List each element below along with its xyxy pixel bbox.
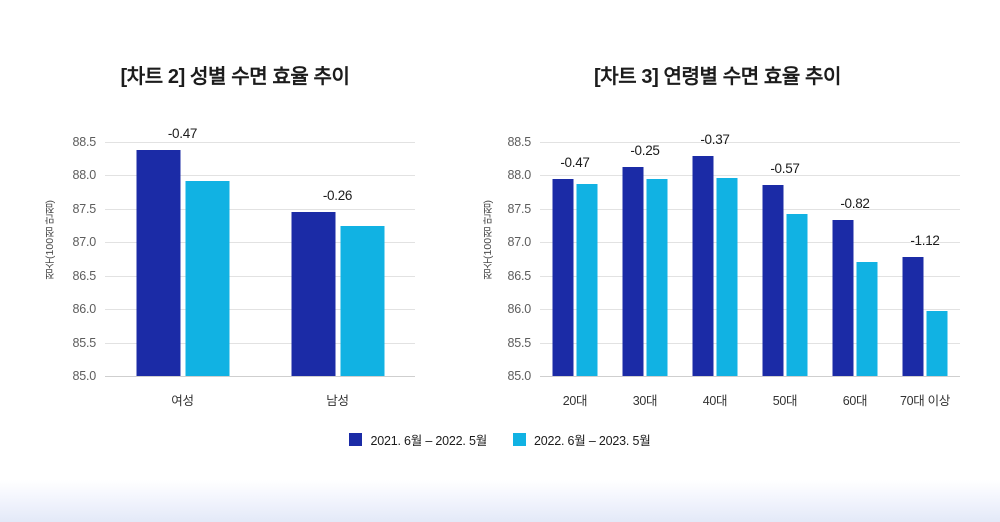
chart3-group: -0.4720대 bbox=[540, 142, 610, 376]
slide-canvas: [차트 2] 성별 수면 효율 추이 점수(100점 만점) 88.588.08… bbox=[0, 0, 1000, 522]
chart3-delta-label: -1.12 bbox=[910, 233, 939, 248]
chart3-bar-series2[interactable] bbox=[857, 262, 878, 376]
chart3-y-axis-title: 점수(100점 만점) bbox=[480, 200, 495, 280]
chart2-bar-series2[interactable] bbox=[340, 226, 384, 376]
chart3-x-tick-label: 50대 bbox=[773, 390, 798, 409]
chart3-bar-series2[interactable] bbox=[577, 184, 598, 376]
chart2-y-tick-label: 85.5 bbox=[72, 336, 96, 350]
chart3-group: -0.2530대 bbox=[610, 142, 680, 376]
chart2-group: -0.47여성 bbox=[105, 142, 260, 376]
chart2-y-tick-label: 87.5 bbox=[72, 202, 96, 216]
chart3-gridline: 85.0 bbox=[540, 376, 960, 377]
chart3-bar-pair bbox=[903, 142, 948, 376]
chart2-y-axis-title: 점수(100점 만점) bbox=[42, 200, 57, 280]
chart3-bar-series1[interactable] bbox=[623, 167, 644, 376]
chart3-y-tick-label: 87.0 bbox=[507, 235, 531, 249]
chart3-delta-label: -0.37 bbox=[700, 132, 729, 147]
chart3-group: -0.5750대 bbox=[750, 142, 820, 376]
chart2-plot-area: 88.588.087.587.086.586.085.585.0 -0.47여성… bbox=[105, 142, 415, 376]
chart2-bar-series1[interactable] bbox=[136, 150, 180, 376]
legend-item-1[interactable]: 2021. 6월 – 2022. 5월 bbox=[349, 430, 487, 449]
chart3-x-tick-label: 30대 bbox=[633, 390, 658, 409]
chart3-bar-series1[interactable] bbox=[553, 179, 574, 376]
chart3-bar-series1[interactable] bbox=[903, 257, 924, 376]
bottom-gradient-strip bbox=[0, 480, 1000, 522]
chart3-bar-pair bbox=[763, 142, 808, 376]
chart2-bar-pair bbox=[136, 142, 229, 376]
chart-legend: 2021. 6월 – 2022. 5월2022. 6월 – 2023. 5월 bbox=[0, 430, 1000, 449]
chart2-x-tick-label: 여성 bbox=[171, 390, 193, 409]
legend-item-label: 2021. 6월 – 2022. 5월 bbox=[370, 430, 487, 449]
legend-swatch-icon bbox=[349, 433, 362, 446]
chart3-x-tick-label: 70대 이상 bbox=[900, 390, 950, 409]
chart2-delta-label: -0.26 bbox=[323, 188, 352, 203]
chart3-group: -1.1270대 이상 bbox=[890, 142, 960, 376]
chart2-y-tick-label: 85.0 bbox=[72, 369, 96, 383]
chart2-bar-series2[interactable] bbox=[185, 181, 229, 376]
chart3-bar-series2[interactable] bbox=[927, 311, 948, 376]
chart3-bar-series1[interactable] bbox=[693, 156, 714, 376]
chart3-y-tick-label: 85.0 bbox=[507, 369, 531, 383]
chart3-bar-series2[interactable] bbox=[787, 214, 808, 376]
chart3-delta-label: -0.47 bbox=[560, 155, 589, 170]
chart3-y-tick-label: 86.0 bbox=[507, 302, 531, 316]
chart2-y-tick-label: 86.0 bbox=[72, 302, 96, 316]
chart3-delta-label: -0.57 bbox=[770, 161, 799, 176]
chart2-y-tick-label: 87.0 bbox=[72, 235, 96, 249]
chart3-bar-series2[interactable] bbox=[647, 179, 668, 376]
chart3-bar-series2[interactable] bbox=[717, 178, 738, 376]
chart3-y-tick-label: 87.5 bbox=[507, 202, 531, 216]
chart2-bar-groups: -0.47여성-0.26남성 bbox=[105, 142, 415, 376]
chart2-title: [차트 2] 성별 수면 효율 추이 bbox=[10, 60, 460, 89]
chart3-x-tick-label: 40대 bbox=[703, 390, 728, 409]
chart3-group: -0.3740대 bbox=[680, 142, 750, 376]
chart2-y-tick-label: 86.5 bbox=[72, 269, 96, 283]
chart3-y-tick-label: 86.5 bbox=[507, 269, 531, 283]
chart2-gridline: 85.0 bbox=[105, 376, 415, 377]
legend-swatch-icon bbox=[513, 433, 526, 446]
chart3-bar-series1[interactable] bbox=[833, 220, 854, 376]
chart3-bar-pair bbox=[693, 142, 738, 376]
chart2-bar-pair bbox=[291, 142, 384, 376]
chart3-group: -0.8260대 bbox=[820, 142, 890, 376]
chart3-bar-groups: -0.4720대-0.2530대-0.3740대-0.5750대-0.8260대… bbox=[540, 142, 960, 376]
chart3-bar-series1[interactable] bbox=[763, 185, 784, 376]
chart3-x-tick-label: 20대 bbox=[563, 390, 588, 409]
chart2-x-tick-label: 남성 bbox=[326, 390, 348, 409]
chart3-plot-area: 88.588.087.587.086.586.085.585.0 -0.4720… bbox=[540, 142, 960, 376]
legend-item-2[interactable]: 2022. 6월 – 2023. 5월 bbox=[513, 430, 651, 449]
chart3-title: [차트 3] 연령별 수면 효율 추이 bbox=[440, 60, 995, 89]
chart2-delta-label: -0.47 bbox=[168, 126, 197, 141]
chart3-delta-label: -0.25 bbox=[630, 143, 659, 158]
chart3-y-tick-label: 88.0 bbox=[507, 168, 531, 182]
chart2-y-tick-label: 88.0 bbox=[72, 168, 96, 182]
legend-item-label: 2022. 6월 – 2023. 5월 bbox=[534, 430, 651, 449]
chart3-bar-pair bbox=[553, 142, 598, 376]
chart3-delta-label: -0.82 bbox=[840, 196, 869, 211]
chart3-y-tick-label: 85.5 bbox=[507, 336, 531, 350]
chart2-group: -0.26남성 bbox=[260, 142, 415, 376]
chart2-bar-series1[interactable] bbox=[291, 212, 335, 376]
chart3-bar-pair bbox=[833, 142, 878, 376]
chart3-y-tick-label: 88.5 bbox=[507, 135, 531, 149]
chart2-y-tick-label: 88.5 bbox=[72, 135, 96, 149]
chart3-x-tick-label: 60대 bbox=[843, 390, 868, 409]
chart3-bar-pair bbox=[623, 142, 668, 376]
